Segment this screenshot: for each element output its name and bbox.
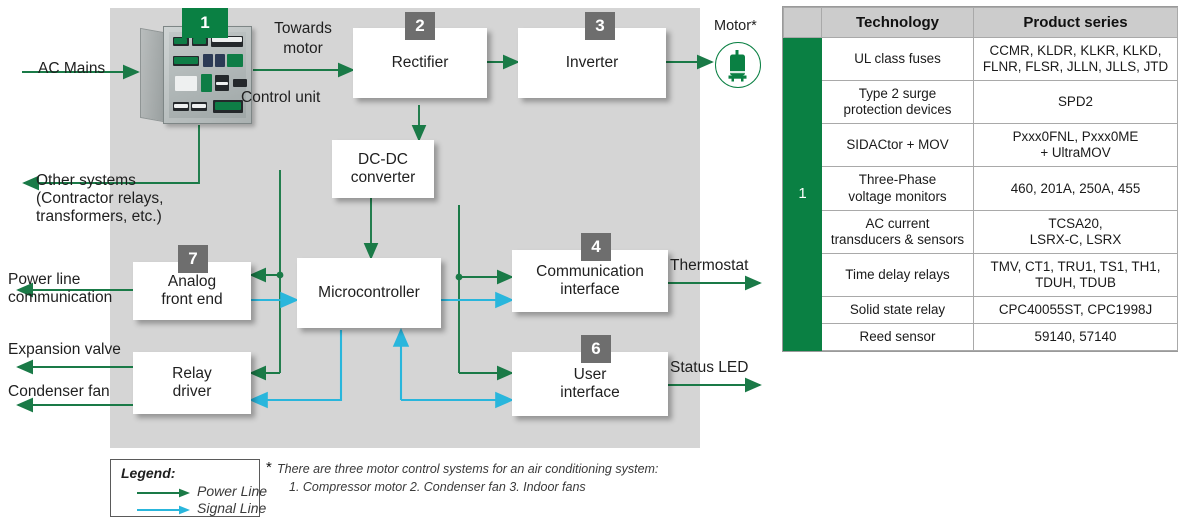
label-other-systems-line3: transformers, etc.) [36, 208, 162, 226]
block-relay-driver[interactable]: Relay driver [133, 352, 251, 414]
block-dcdc-label-line2: converter [351, 169, 416, 187]
block-microcontroller-label: Microcontroller [318, 284, 420, 302]
table-row: Time delay relaysTMV, CT1, TRU1, TS1, TH… [784, 253, 1178, 296]
legend-signal-line-label: Signal Line [197, 500, 266, 516]
table-row: Reed sensor59140, 57140 [784, 324, 1178, 351]
table-cell-technology: UL class fuses [822, 38, 974, 81]
enclosure-door [140, 28, 164, 122]
block-analog-label-line1: Analog [168, 273, 216, 291]
table-cell-technology: Reed sensor [822, 324, 974, 351]
table-header-technology: Technology [822, 8, 974, 38]
table-cell-technology: Three-Phasevoltage monitors [822, 167, 974, 210]
table-cell-technology: Time delay relays [822, 253, 974, 296]
legend-power-line-icon [135, 487, 193, 499]
wire-dcdc-power-to-analog [251, 170, 280, 275]
label-thermostat: Thermostat [670, 257, 748, 275]
label-power-line-comm-line1: Power line [8, 271, 80, 289]
block-relay-label-line2: driver [173, 383, 212, 401]
label-other-systems-line2: (Contractor relays, [36, 190, 163, 208]
diagram-root: 1 Rectifier 2 Inverter 3 DC-DC converter… [0, 0, 1200, 528]
table-index-cell: 1 [784, 38, 822, 351]
badge-6: 6 [581, 335, 611, 363]
table-cell-technology: Type 2 surgeprotection devices [822, 81, 974, 124]
badge-2: 2 [405, 12, 435, 40]
label-control-unit: Control unit [241, 89, 320, 107]
table-row: Three-Phasevoltage monitors460, 201A, 25… [784, 167, 1178, 210]
label-condenser-fan: Condenser fan [8, 383, 110, 401]
product-table: Technology Product series 1UL class fuse… [782, 6, 1178, 352]
label-power-line-comm-line2: communication [8, 289, 112, 307]
table-header-row: Technology Product series [784, 8, 1178, 38]
block-rectifier-label: Rectifier [392, 54, 449, 72]
label-status-led: Status LED [670, 359, 748, 377]
footnote: * There are three motor control systems … [277, 460, 747, 496]
table-row: Solid state relayCPC40055ST, CPC1998J [784, 296, 1178, 323]
block-comm-label-line2: interface [560, 281, 619, 299]
table-cell-product-series: 59140, 57140 [974, 324, 1178, 351]
badge-1: 1 [182, 8, 228, 38]
label-towards-motor-line2: motor [262, 40, 344, 58]
enclosure-backplate [169, 32, 246, 118]
block-microcontroller[interactable]: Microcontroller [297, 258, 441, 328]
product-table-grid: Technology Product series 1UL class fuse… [783, 7, 1178, 351]
table-body: 1UL class fusesCCMR, KLDR, KLKR, KLKD,FL… [784, 38, 1178, 351]
footnote-line2: 1. Compressor motor 2. Condenser fan 3. … [277, 478, 747, 496]
table-cell-technology: AC currenttransducers & sensors [822, 210, 974, 253]
table-row: Type 2 surgeprotection devicesSPD2 [784, 81, 1178, 124]
table-cell-product-series: SPD2 [974, 81, 1178, 124]
table-row: 1UL class fusesCCMR, KLDR, KLKR, KLKD,FL… [784, 38, 1178, 81]
label-ac-mains: AC Mains [38, 60, 105, 78]
table-row: SIDACtor + MOVPxxx0FNL, Pxxx0ME+ UltraMO… [784, 124, 1178, 167]
table-header-product-series: Product series [974, 8, 1178, 38]
motor-icon [715, 42, 761, 88]
block-analog-label-line2: front end [161, 291, 222, 309]
block-comm-label-line1: Communication [536, 263, 644, 281]
table-cell-product-series: 460, 201A, 250A, 455 [974, 167, 1178, 210]
table-cell-technology: Solid state relay [822, 296, 974, 323]
label-expansion-valve: Expansion valve [8, 341, 121, 359]
wire-dcdc-power-to-comm [459, 205, 512, 277]
legend-signal-line-icon [135, 504, 193, 516]
label-other-systems-line1: Other systems [36, 172, 136, 190]
wire-micro-to-relay [251, 330, 341, 400]
motor-label: Motor* [714, 18, 757, 35]
table-cell-product-series: CCMR, KLDR, KLKR, KLKD,FLNR, FLSR, JLLN,… [974, 38, 1178, 81]
table-cell-product-series: TCSA20,LSRX-C, LSRX [974, 210, 1178, 253]
label-towards-motor-line1: Towards [262, 20, 344, 38]
block-inverter-label: Inverter [566, 54, 619, 72]
motor-glyph [716, 43, 762, 89]
table-cell-product-series: CPC40055ST, CPC1998J [974, 296, 1178, 323]
table-header-index [784, 8, 822, 38]
badge-4: 4 [581, 233, 611, 261]
enclosure-body [163, 26, 252, 124]
badge-7: 7 [178, 245, 208, 273]
block-dcdc-converter[interactable]: DC-DC converter [332, 140, 434, 198]
control-unit-image [140, 26, 252, 124]
legend-row-power-line: Power Line [135, 486, 193, 502]
motor-ring [715, 42, 761, 88]
block-ui-label-line1: User [574, 366, 607, 384]
block-dcdc-label-line1: DC-DC [358, 151, 408, 169]
legend-title: Legend: [121, 465, 175, 481]
legend-box: Legend: Power Line Signal Line [110, 459, 260, 517]
table-cell-product-series: Pxxx0FNL, Pxxx0ME+ UltraMOV [974, 124, 1178, 167]
block-relay-label-line1: Relay [172, 365, 212, 383]
badge-3: 3 [585, 12, 615, 40]
footnote-marker: * [266, 457, 272, 479]
table-row: AC currenttransducers & sensorsTCSA20,LS… [784, 210, 1178, 253]
table-cell-product-series: TMV, CT1, TRU1, TS1, TH1,TDUH, TDUB [974, 253, 1178, 296]
table-cell-technology: SIDACtor + MOV [822, 124, 974, 167]
legend-power-line-label: Power Line [197, 483, 267, 499]
legend-row-signal-line: Signal Line [135, 503, 193, 519]
footnote-line1: There are three motor control systems fo… [277, 460, 747, 478]
block-ui-label-line2: interface [560, 384, 619, 402]
